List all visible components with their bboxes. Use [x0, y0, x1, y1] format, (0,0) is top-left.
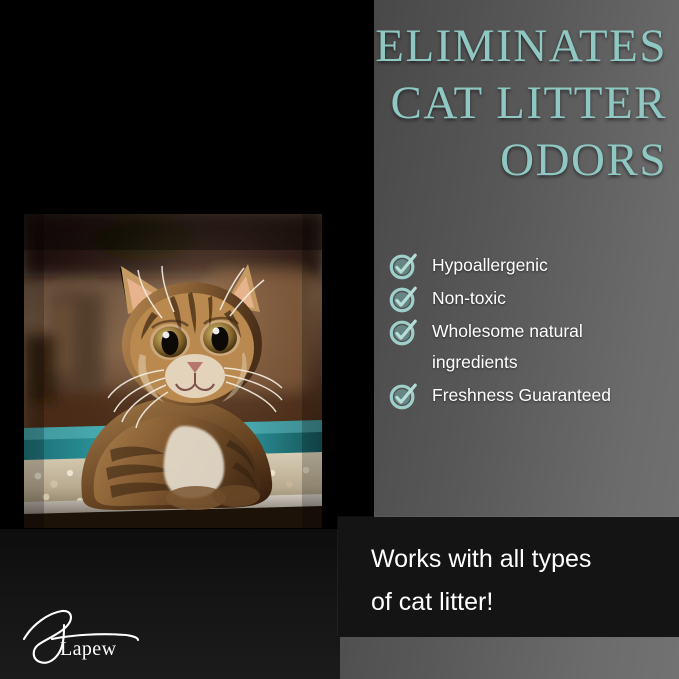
- check-circle-icon: [388, 251, 418, 281]
- product-ad-canvas: ELIMINATES CAT LITTER ODORS: [0, 0, 679, 679]
- headline-line-1: ELIMINATES: [107, 18, 667, 75]
- headline-line-2: CAT LITTER: [107, 75, 667, 132]
- benefit-label: Freshness Guaranteed: [432, 380, 611, 410]
- check-circle-icon: [388, 284, 418, 314]
- headline: ELIMINATES CAT LITTER ODORS: [107, 18, 667, 189]
- benefit-label: Wholesome natural ingredients: [432, 316, 583, 378]
- headline-line-3: ODORS: [107, 132, 667, 189]
- brand-logo: Lapew: [22, 605, 152, 667]
- benefit-item: Non-toxic: [388, 283, 673, 314]
- kitten-litter-box-photo: [24, 214, 322, 528]
- benefits-list: Hypoallergenic Non-toxic Wholesome n: [388, 250, 673, 413]
- benefit-label: Hypoallergenic: [432, 250, 548, 280]
- benefit-label: Non-toxic: [432, 283, 506, 313]
- caption-box: Works with all types of cat litter!: [338, 517, 679, 637]
- benefit-item: Hypoallergenic: [388, 250, 673, 281]
- caption-text: Works with all types of cat litter!: [371, 538, 661, 624]
- benefit-item: Freshness Guaranteed: [388, 380, 673, 411]
- check-circle-icon: [388, 381, 418, 411]
- benefit-item: Wholesome natural ingredients: [388, 316, 673, 378]
- check-circle-icon: [388, 317, 418, 347]
- brand-wordmark: Lapew: [60, 638, 116, 661]
